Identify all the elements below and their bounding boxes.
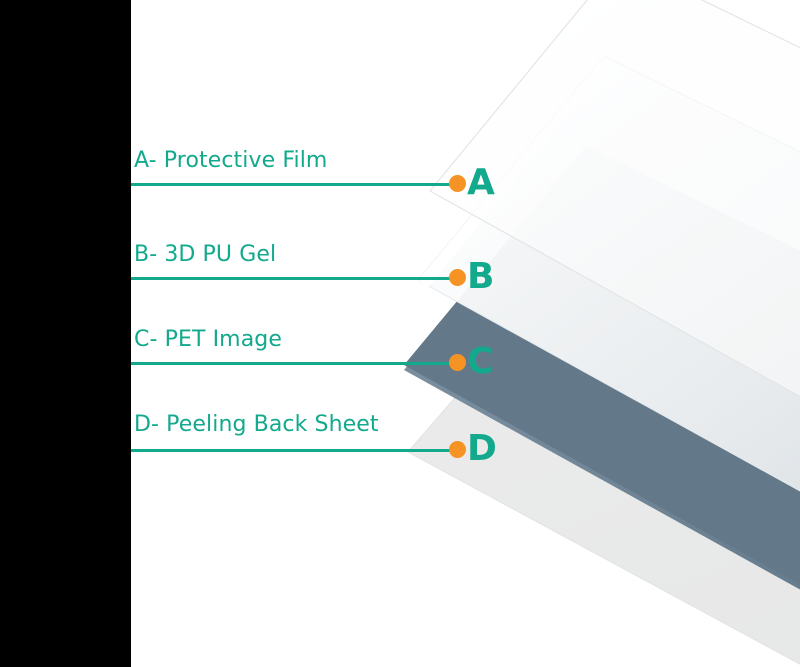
callout-dot-d[interactable]: [449, 441, 466, 458]
callout-label-b: B- 3D PU Gel: [134, 244, 276, 266]
callout-leader-line-c: [131, 362, 455, 365]
callout-letter-d: D: [467, 431, 497, 467]
callout-leader-line-b: [131, 277, 455, 280]
callout-dot-c[interactable]: [449, 354, 466, 371]
callout-dot-b[interactable]: [449, 269, 466, 286]
callout-label-c: C- PET Image: [134, 329, 282, 351]
left-letterbox-bar: [0, 0, 131, 667]
callout-letter-c: C: [467, 344, 493, 380]
diagram-canvas: A- Protective Film A B- 3D PU Gel B C- P…: [0, 0, 800, 667]
callout-label-a: A- Protective Film: [134, 150, 327, 172]
callout-dot-a[interactable]: [449, 175, 466, 192]
callout-leader-line-a: [131, 183, 455, 186]
callout-letter-b: B: [467, 259, 494, 295]
callout-leader-line-d: [131, 449, 455, 452]
callout-label-d: D- Peeling Back Sheet: [134, 414, 379, 436]
callout-letter-a: A: [467, 165, 495, 201]
